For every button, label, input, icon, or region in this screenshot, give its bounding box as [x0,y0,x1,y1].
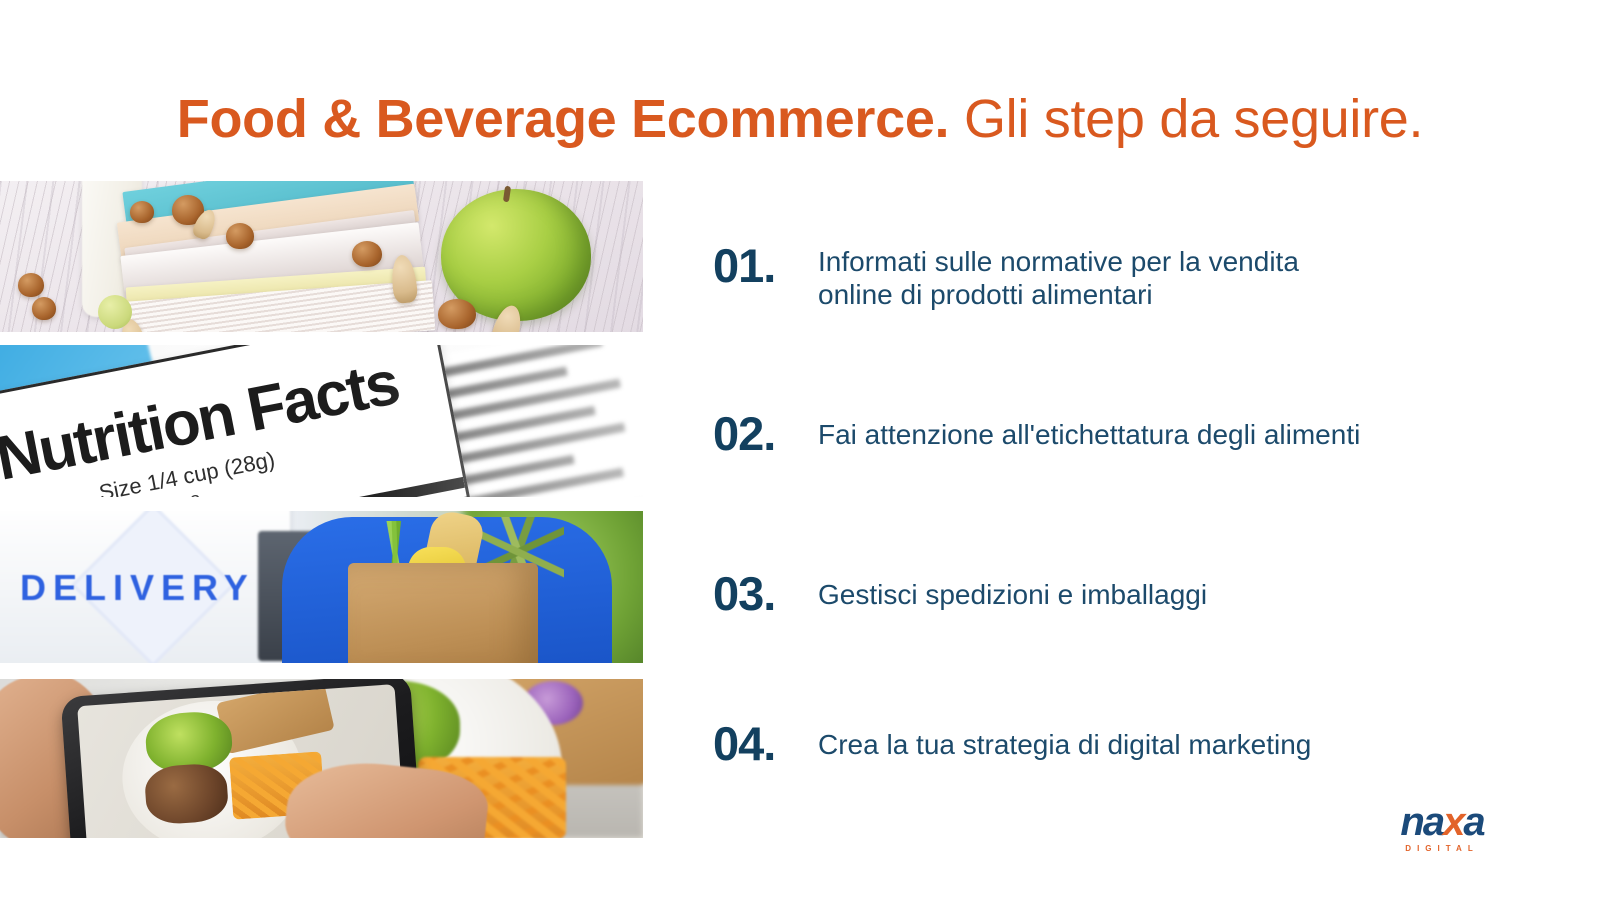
step-item-02: 02. Fai attenzione all'etichettatura deg… [713,410,1360,457]
step-text-02: Fai attenzione all'etichettatura degli a… [818,410,1360,451]
hazelnut-2 [32,297,56,320]
logo-part-x: x [1443,800,1463,844]
grocery-delivery-photo: DELIVERY [0,511,643,663]
step-text-01: Informati sulle normative per la vendita… [818,242,1299,311]
step-number-01: 01. [713,242,818,289]
naxa-digital-logo: naxa DIGITAL [1372,802,1512,858]
van-delivery-text: DELIVERY [20,567,255,609]
step-text-04: Crea la tua strategia di digital marketi… [818,720,1311,761]
logo-wordmark: naxa [1372,802,1512,842]
step-item-01: 01. Informati sulle normative per la ven… [713,242,1299,311]
paper-grocery-bag [348,563,538,663]
logo-part-a: a [1463,800,1483,844]
step-text-03: Gestisci spedizioni e imballaggi [818,570,1207,611]
page-title-bold: Food & Beverage Ecommerce. [177,89,950,149]
hazelnut-5 [226,223,254,249]
page-title: Food & Beverage Ecommerce. Gli step da s… [0,88,1600,150]
step-number-03: 03. [713,570,818,617]
slide-canvas: Food & Beverage Ecommerce. Gli step da s… [0,0,1600,900]
logo-tagline: DIGITAL [1372,844,1512,853]
step-item-04: 04. Crea la tua strategia di digital mar… [713,720,1311,767]
nutrition-facts-label-photo: Nutrition Facts Size 1/4 cup (28g) Conta… [0,345,643,497]
hazelnut-3 [130,201,154,223]
step-item-03: 03. Gestisci spedizioni e imballaggi [713,570,1207,617]
hazelnut-1 [18,273,44,297]
step-number-04: 04. [713,720,818,767]
grape [98,295,132,329]
page-title-light: Gli step da seguire. [964,89,1423,149]
books-nuts-apple-photo [0,181,643,332]
food-photography-photo [0,679,643,838]
step-number-02: 02. [713,410,818,457]
hazelnut-6 [352,241,382,267]
hazelnut-7 [438,299,476,329]
label-blur-overlay [0,345,643,497]
logo-part-na: na [1400,800,1443,844]
